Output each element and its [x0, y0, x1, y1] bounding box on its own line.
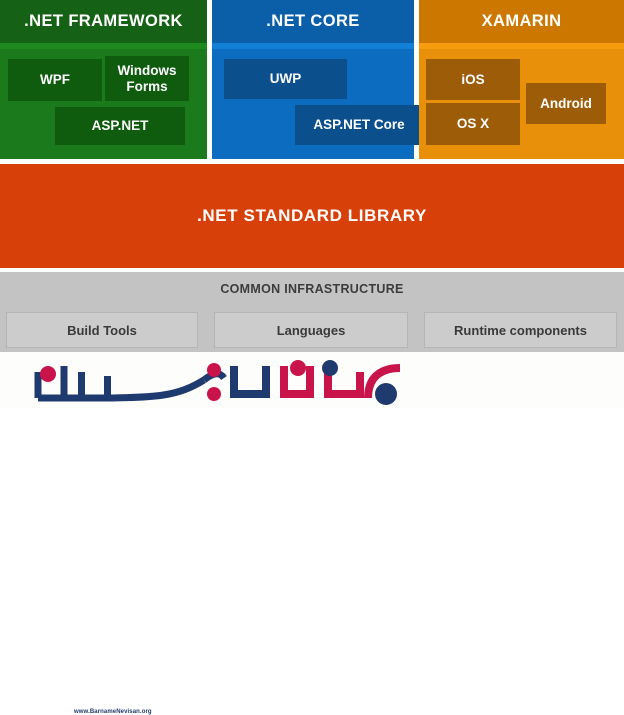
column-xamarin: XAMARIN iOS OS X Android	[419, 0, 624, 159]
infra-box-runtime-components[interactable]: Runtime components	[424, 312, 617, 348]
logo-dot-4	[375, 383, 397, 405]
tile-windows-forms[interactable]: Windows Forms	[105, 56, 189, 101]
column-net-framework: .NET FRAMEWORK WPF Windows Forms ASP.NET	[0, 0, 207, 159]
logo-url-text: www.BarnameNevisan.org	[74, 709, 152, 715]
column-net-core: .NET CORE UWP ASP.NET Core	[212, 0, 414, 159]
logo-dot-3	[207, 387, 221, 401]
diagram-canvas: .NET FRAMEWORK WPF Windows Forms ASP.NET…	[0, 0, 624, 408]
column-header-net-framework: .NET FRAMEWORK	[0, 0, 207, 43]
tile-uwp[interactable]: UWP	[224, 59, 347, 99]
common-infrastructure-row: Build Tools Languages Runtime components	[0, 312, 624, 350]
column-body-net-framework: WPF Windows Forms ASP.NET	[0, 49, 207, 159]
column-body-net-core: UWP ASP.NET Core	[212, 49, 414, 159]
tile-asp-net-core[interactable]: ASP.NET Core	[295, 105, 423, 145]
common-infrastructure-panel: COMMON INFRASTRUCTURE Build Tools Langua…	[0, 272, 624, 352]
net-standard-library-label: .NET STANDARD LIBRARY	[197, 206, 427, 226]
tile-wpf[interactable]: WPF	[8, 59, 102, 101]
logo-dot-1	[40, 366, 56, 382]
platform-columns: .NET FRAMEWORK WPF Windows Forms ASP.NET…	[0, 0, 624, 159]
barnamenevisan-logo[interactable]: www.BarnameNevisan.org	[8, 352, 408, 408]
tile-ios[interactable]: iOS	[426, 59, 520, 100]
column-header-xamarin: XAMARIN	[419, 0, 624, 43]
logo-dot-2	[207, 363, 221, 377]
tile-asp-net[interactable]: ASP.NET	[55, 107, 185, 145]
tile-os-x[interactable]: OS X	[426, 103, 520, 145]
tile-android[interactable]: Android	[526, 83, 606, 124]
infra-box-build-tools[interactable]: Build Tools	[6, 312, 198, 348]
common-infrastructure-title: COMMON INFRASTRUCTURE	[0, 282, 624, 296]
column-header-net-core: .NET CORE	[212, 0, 414, 43]
net-standard-library-band: .NET STANDARD LIBRARY	[0, 164, 624, 268]
infra-box-languages[interactable]: Languages	[214, 312, 408, 348]
logo-artwork	[8, 352, 408, 408]
column-body-xamarin: iOS OS X Android	[419, 49, 624, 159]
